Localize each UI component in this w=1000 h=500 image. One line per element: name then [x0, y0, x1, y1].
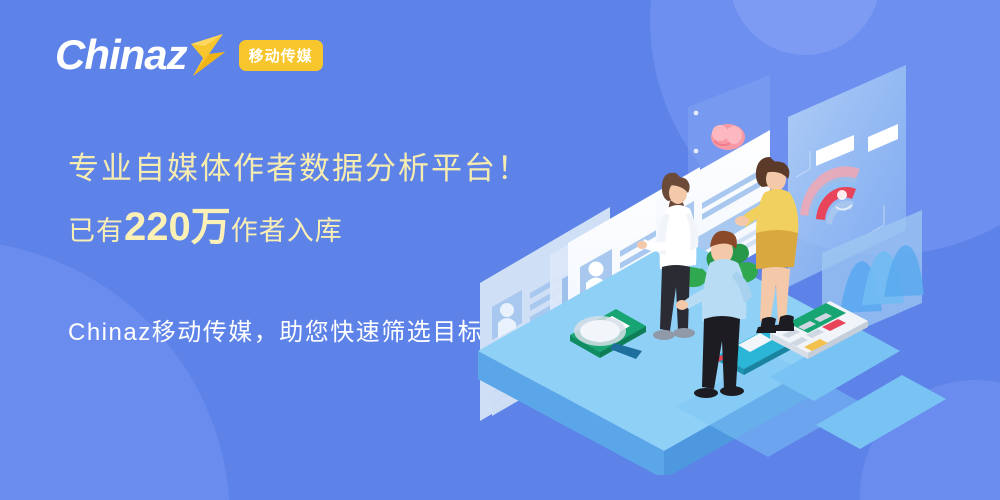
headline-primary: 专业自媒体作者数据分析平台！	[68, 150, 530, 189]
headline-block: 专业自媒体作者数据分析平台！ 已有220万作者入库	[68, 150, 530, 251]
background-circle-top-right-small	[730, 0, 880, 55]
background-circle-bottom-left	[0, 240, 230, 500]
logo-badge: 移动传媒	[239, 40, 323, 71]
isometric-illustration	[470, 55, 1000, 475]
logo-wordmark: Chinaz	[55, 34, 187, 76]
headline-secondary-suffix: 作者入库	[231, 216, 343, 246]
brain-icon	[711, 124, 745, 150]
headline-secondary: 已有220万作者入库	[68, 203, 530, 251]
promo-banner: Chinaz 移动传媒 专业自媒体作者数据分析平台！ 已有220万作者入库 Ch…	[0, 0, 1000, 500]
tagline: Chinaz移动传媒，助您快速筛选目标作者	[68, 312, 534, 347]
author-count-number: 220万	[124, 205, 231, 249]
chinaz-z-icon	[183, 32, 227, 78]
headline-secondary-prefix: 已有	[68, 216, 124, 246]
logo-mark: Chinaz	[55, 32, 227, 78]
chinaz-logo[interactable]: Chinaz 移动传媒	[55, 30, 323, 80]
